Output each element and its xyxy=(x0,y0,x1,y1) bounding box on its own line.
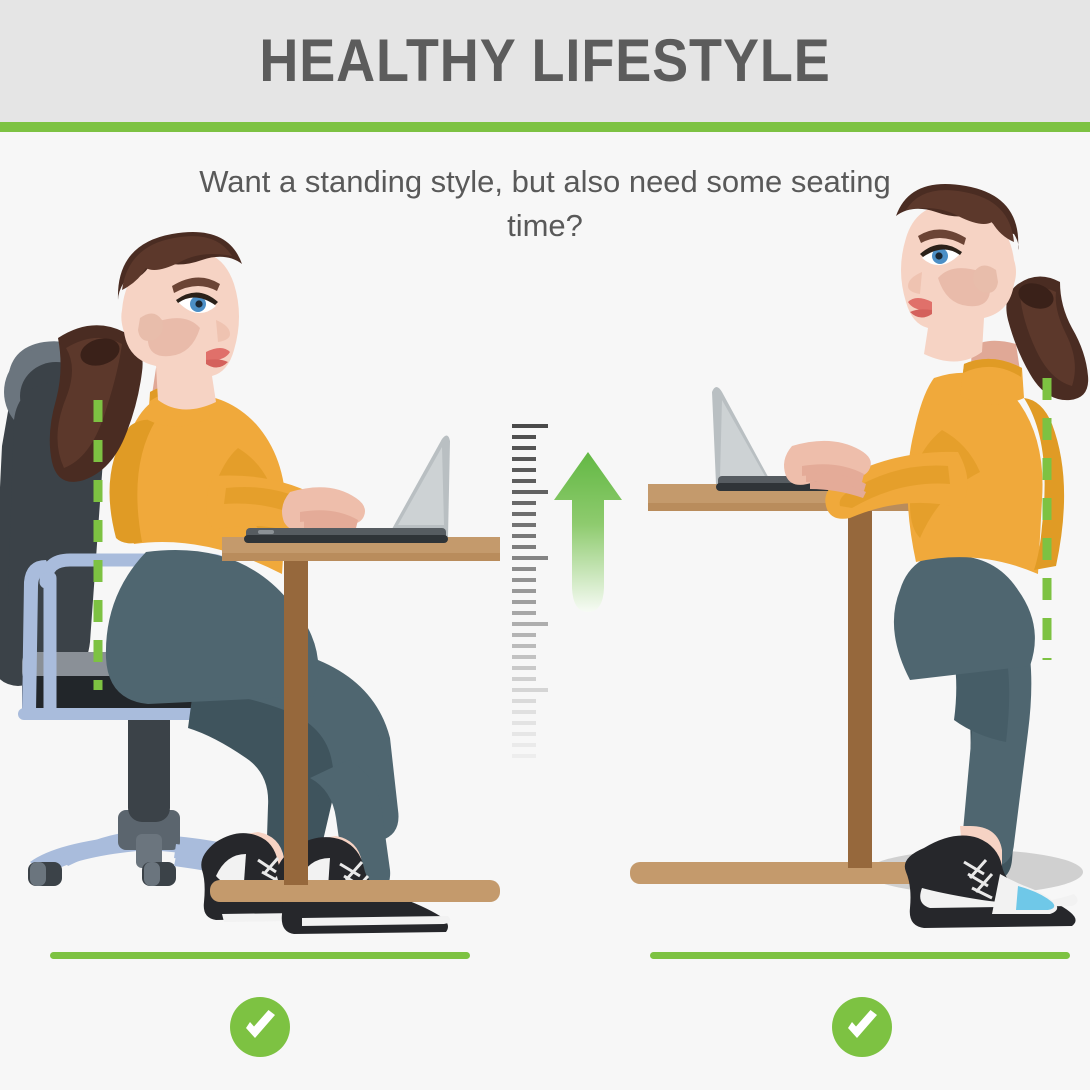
page-title: HEALTHY LIFESTYLE xyxy=(55,26,1036,95)
chair-base xyxy=(28,810,292,890)
chair-back xyxy=(0,341,105,686)
check-circle-icon-standing xyxy=(832,997,892,1057)
infographic-canvas: HEALTHY LIFESTYLE Want a standing style,… xyxy=(0,0,1090,1090)
standing-shoe xyxy=(905,836,1078,928)
standing-hand xyxy=(784,441,871,498)
seated-torso xyxy=(106,365,340,704)
standing-legs xyxy=(924,571,1031,882)
seated-hand xyxy=(282,487,365,544)
seated-shoe-near xyxy=(277,837,450,934)
standing-head xyxy=(896,184,1088,400)
sit-desk xyxy=(210,537,500,902)
height-ruler xyxy=(512,426,548,756)
seated-head xyxy=(50,232,242,482)
seated-figure-group xyxy=(0,232,500,934)
seated-shoe-far xyxy=(201,833,374,922)
chair-frame xyxy=(24,560,296,714)
check-circle-icon-seated xyxy=(230,997,290,1057)
sit-laptop xyxy=(244,435,450,543)
chair-seat xyxy=(22,652,298,710)
header-accent-rule xyxy=(0,122,1090,132)
panel-rule-seated xyxy=(50,952,470,959)
chair-gas-cylinder xyxy=(128,662,170,822)
standing-figure-group xyxy=(630,184,1088,928)
raise-arrow xyxy=(554,452,622,612)
panel-rule-standing xyxy=(650,952,1070,959)
standing-torso xyxy=(825,341,1064,680)
seated-legs xyxy=(148,633,399,894)
stand-desk xyxy=(630,484,926,884)
subtitle-text: Want a standing style, but also need som… xyxy=(195,160,895,248)
stand-laptop xyxy=(712,387,916,491)
